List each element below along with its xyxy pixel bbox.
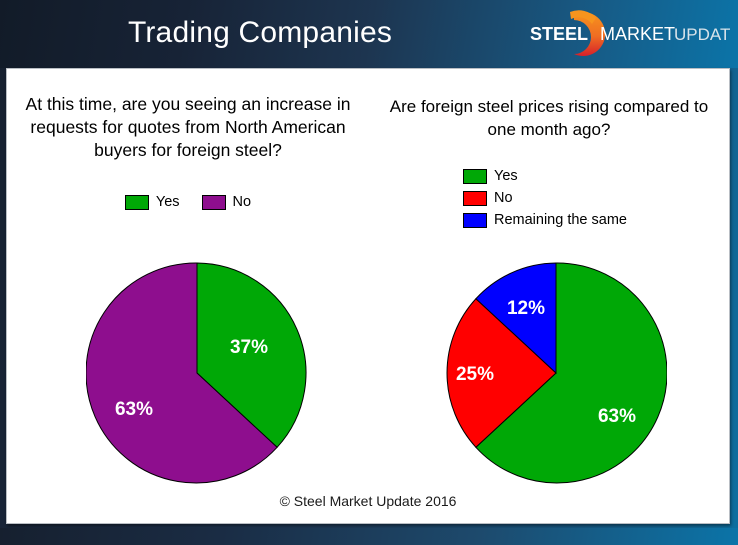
- legend-item-yes: Yes: [463, 169, 627, 184]
- legend-label-yes: Yes: [494, 169, 518, 184]
- legend-label-remaining-the-same: Remaining the same: [494, 213, 627, 228]
- chart-right-legend: Yes No Remaining the same: [463, 169, 627, 228]
- slide-header: Trading Companies STEEL MARKET UPDATE: [0, 0, 738, 68]
- legend-swatch-purple: [202, 195, 226, 210]
- legend-item-no: No: [463, 191, 627, 206]
- chart-foreign-prices: Are foreign steel prices rising compared…: [369, 69, 729, 525]
- legend-swatch-blue: [463, 213, 487, 228]
- page-title: Trading Companies: [0, 12, 520, 54]
- copyright-footer: © Steel Market Update 2016: [7, 493, 729, 509]
- pie-label-yes: 63%: [598, 406, 636, 427]
- chart-left-title: At this time, are you seeing an increase…: [7, 93, 369, 162]
- legend-label-no: No: [494, 191, 513, 206]
- chart-quotes-increase: At this time, are you seeing an increase…: [7, 69, 369, 525]
- logo-word-steel: STEEL: [530, 24, 588, 44]
- slide: Trading Companies STEEL MARKET UPDATE: [0, 0, 738, 545]
- pie-label-yes: 37%: [230, 337, 268, 358]
- steel-market-update-logo: STEEL MARKET UPDATE: [508, 6, 730, 62]
- legend-swatch-red: [463, 191, 487, 206]
- legend-swatch-green: [125, 195, 149, 210]
- pie-label-remaining-the-same: 12%: [507, 298, 545, 319]
- pie-label-no: 63%: [115, 399, 153, 420]
- pie-label-no: 25%: [456, 364, 494, 385]
- legend-swatch-green: [463, 169, 487, 184]
- legend-label-yes: Yes: [156, 195, 180, 210]
- pie-chart-left: 37% 63%: [86, 262, 308, 484]
- legend-item-no: No: [202, 195, 252, 210]
- slide-bottom-strip: [0, 528, 738, 545]
- chart-left-legend: Yes No: [7, 195, 369, 210]
- legend-item-yes: Yes: [125, 195, 180, 210]
- content-panel: At this time, are you seeing an increase…: [6, 68, 730, 524]
- logo-word-update: UPDATE: [674, 25, 730, 44]
- pie-chart-right: 63% 25% 12%: [445, 262, 667, 484]
- legend-label-no: No: [233, 195, 252, 210]
- chart-right-title: Are foreign steel prices rising compared…: [369, 95, 729, 141]
- legend-item-remaining-the-same: Remaining the same: [463, 213, 627, 228]
- logo-word-market: MARKET: [600, 24, 675, 44]
